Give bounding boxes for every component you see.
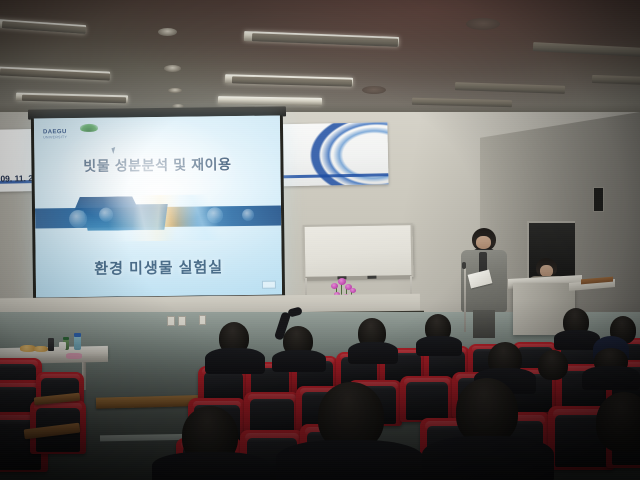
audience-shoulders-foreground [276, 440, 424, 480]
wall-equipment-box [199, 315, 206, 325]
wall-equipment-box [167, 316, 175, 326]
seat-top-highlight [245, 433, 299, 442]
bottle-cap [63, 337, 69, 340]
seat-back-cushion [406, 382, 448, 420]
seat-top-highlight [248, 394, 295, 402]
audience-shoulders-foreground [152, 452, 270, 480]
whiteboard-marker [367, 276, 376, 279]
wall-equipment-box [178, 316, 186, 326]
audience-head-foreground [596, 392, 640, 452]
mouse-cursor-icon [111, 147, 117, 154]
projection-screen: DAEGU UNIVERSITY 빗물 성분분석 및 재이용 환경 미생물 실험… [31, 115, 285, 303]
water-bottle[interactable] [74, 336, 81, 350]
slide-graphic-band [35, 193, 282, 242]
audience-shoulders-foreground [422, 436, 554, 480]
audience-shoulders [348, 342, 398, 364]
slide-corner-watermark [262, 281, 276, 289]
audience-shoulders [416, 336, 462, 356]
beverage-can[interactable] [48, 338, 54, 351]
audience-shoulders [205, 348, 265, 374]
seat-top-highlight [0, 360, 38, 367]
presenter-face [476, 236, 491, 249]
slide-subtitle: 환경 미생물 실험실 [36, 255, 282, 279]
microphone-stand [464, 268, 466, 332]
logo-emblem-icon [80, 124, 98, 132]
paper-cup[interactable] [59, 342, 66, 351]
logo-subtext: UNIVERSITY [43, 135, 67, 139]
band-light-streaks [35, 193, 282, 242]
door-sign-panel [593, 187, 604, 212]
flower-bloom [350, 288, 356, 293]
ceiling-downlight [158, 28, 177, 36]
auditorium-photo: 발표회 발표회 : 대구대학교 환경공학과 09. 11. 20(금 DAEGU… [0, 0, 640, 480]
audience-shoulders [582, 366, 640, 390]
presenter-legs [473, 310, 495, 338]
flower-bloom [331, 283, 338, 289]
seat-top-highlight [404, 378, 449, 385]
snack-food [34, 346, 48, 352]
whiteboard [303, 223, 414, 279]
seat-top-highlight [40, 374, 80, 381]
flower-bloom [338, 278, 346, 285]
ceiling-air-vent [362, 86, 386, 94]
auditorium-seat[interactable] [400, 376, 454, 422]
ceiling-downlight [164, 65, 181, 72]
seat-top-highlight [0, 383, 39, 391]
ceiling-downlight [168, 88, 182, 93]
microphone-head-icon [462, 262, 466, 269]
audience-head-foreground [456, 378, 518, 444]
audience-head [538, 350, 568, 380]
slide-title: 빗물 성분분석 및 재이용 [34, 154, 280, 177]
presentation-slide: DAEGU UNIVERSITY 빗물 성분분석 및 재이용 환경 미생물 실험… [34, 116, 282, 298]
ceiling-air-vent [466, 18, 500, 30]
bottle-cap [74, 333, 81, 337]
seat-top-highlight [516, 344, 555, 350]
audience-shoulders [272, 350, 326, 372]
napkin [66, 353, 82, 359]
university-logo: DAEGU UNIVERSITY [43, 124, 101, 141]
